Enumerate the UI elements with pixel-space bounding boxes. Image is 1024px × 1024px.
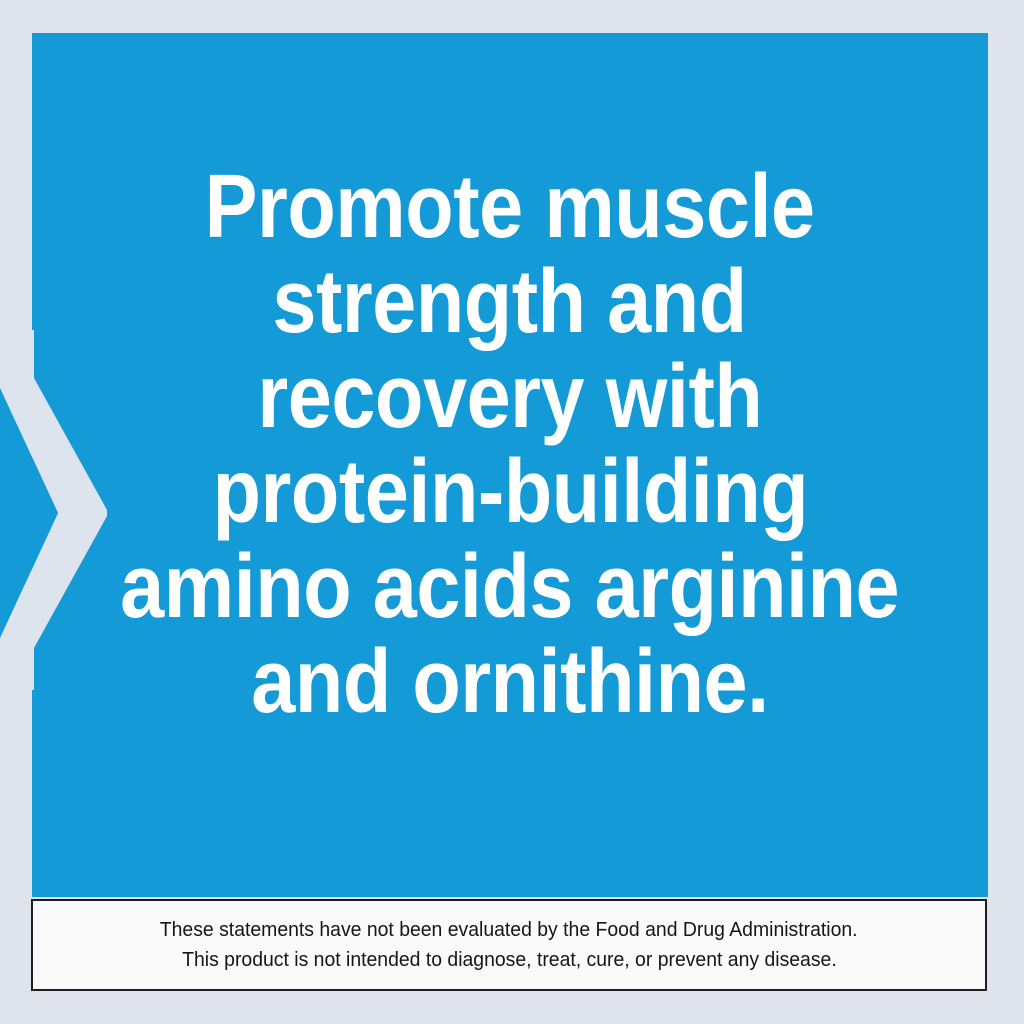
headline-line: strength and bbox=[273, 255, 747, 350]
headline-line: amino acids arginine bbox=[120, 540, 899, 635]
fda-disclaimer-box: These statements have not been evaluated… bbox=[31, 899, 987, 991]
headline-line: protein-building bbox=[212, 445, 808, 540]
promo-card: Promote muscle strength and recovery wit… bbox=[0, 0, 1024, 1024]
headline-line: recovery with bbox=[258, 350, 763, 445]
disclaimer-line: This product is not intended to diagnose… bbox=[182, 945, 837, 975]
disclaimer-line: These statements have not been evaluated… bbox=[160, 915, 858, 945]
headline-block: Promote muscle strength and recovery wit… bbox=[32, 33, 988, 897]
headline-line: Promote muscle bbox=[205, 160, 815, 255]
headline-line: and ornithine. bbox=[251, 635, 768, 730]
